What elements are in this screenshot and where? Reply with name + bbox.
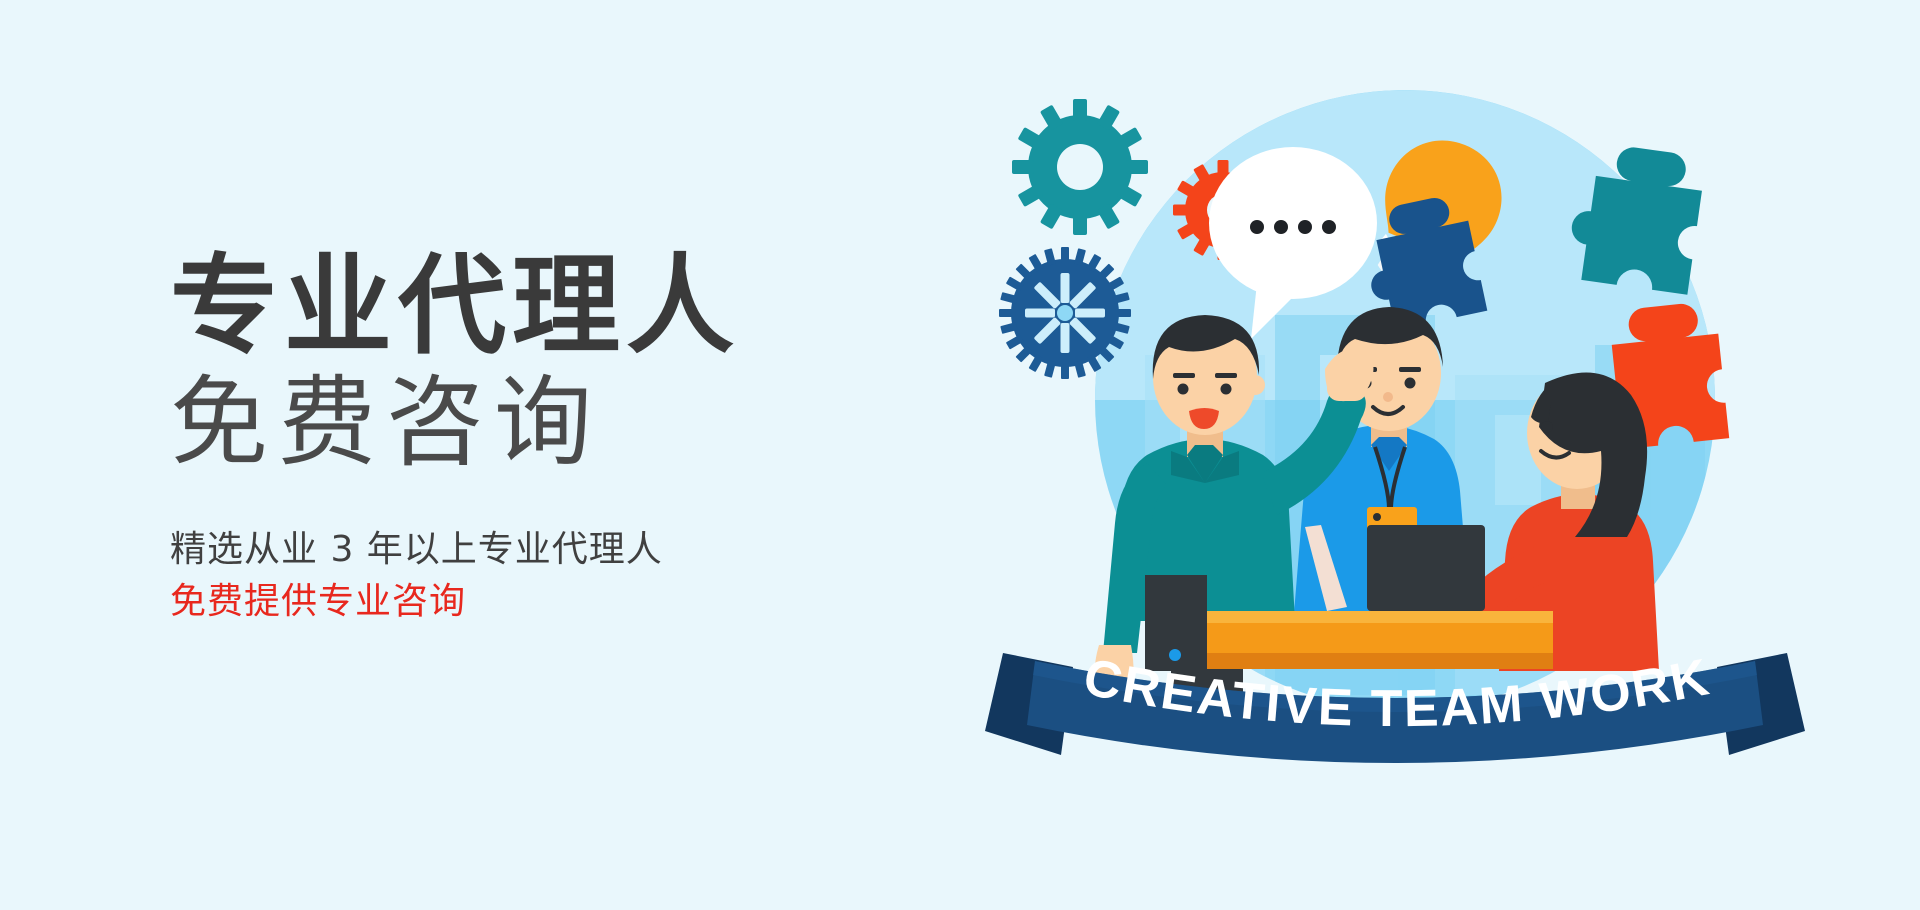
- monitor-back: [1145, 575, 1207, 671]
- creative-team-work-illustration: CREATIVE TEAM WORK: [975, 55, 1815, 855]
- copy-block: 专业代理人 免费咨询 精选从业 3 年以上专业代理人 免费提供专业咨询: [170, 250, 930, 628]
- subtitle-line-1: 精选从业 3 年以上专业代理人: [170, 524, 930, 576]
- promo-banner: 专业代理人 免费咨询 精选从业 3 年以上专业代理人 免费提供专业咨询: [0, 0, 1920, 910]
- desk: [1193, 611, 1553, 669]
- headline-secondary: 免费咨询: [170, 367, 930, 480]
- teal-gear-icon: [1012, 99, 1148, 235]
- headline-primary: 专业代理人: [170, 250, 930, 363]
- subtitle-block: 精选从业 3 年以上专业代理人 免费提供专业咨询: [170, 524, 930, 628]
- subtitle-line-2-accent: 免费提供专业咨询: [170, 576, 930, 628]
- navy-gear-icon: [999, 247, 1131, 379]
